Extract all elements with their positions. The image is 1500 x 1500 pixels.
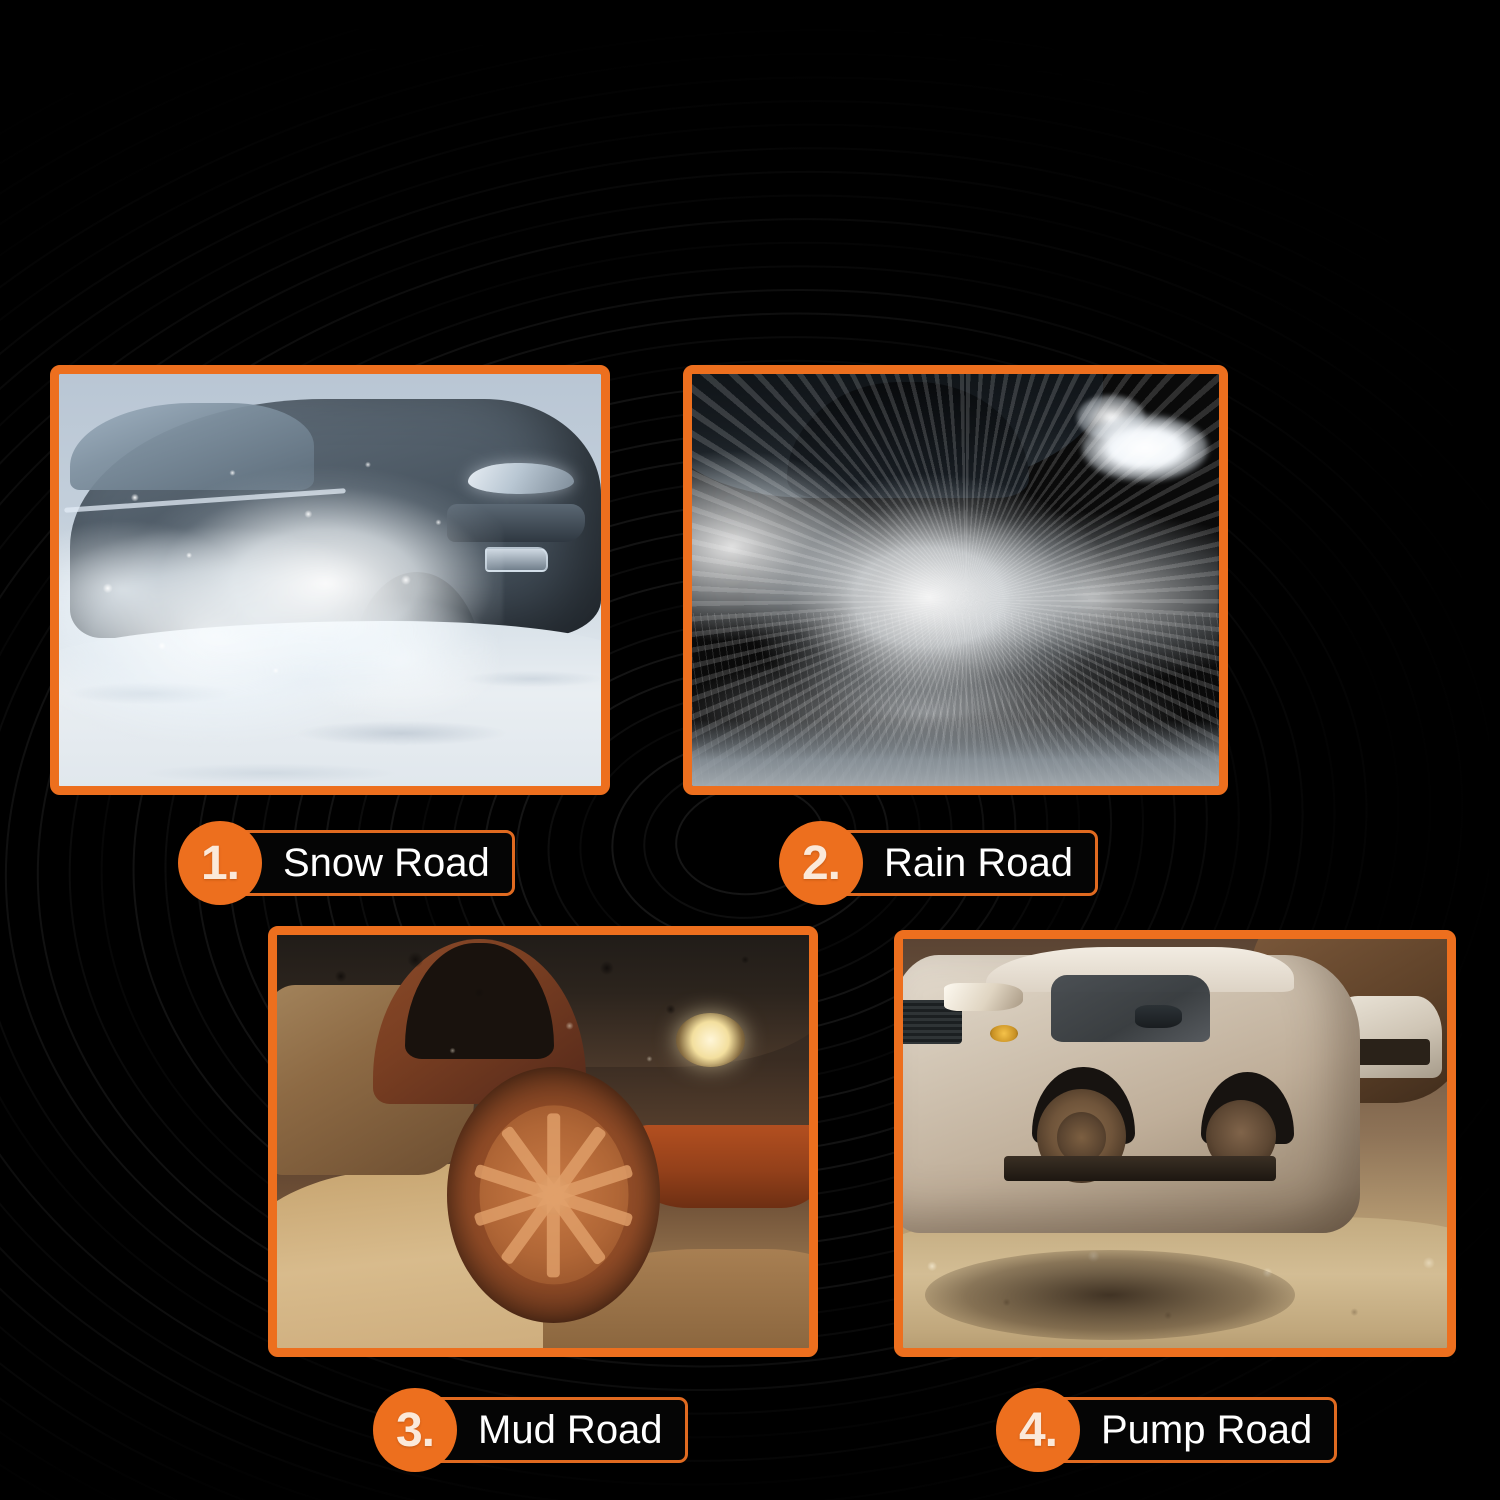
pump-suv-fog-light bbox=[990, 1025, 1018, 1042]
caption-pump-road[interactable]: 4. Pump Road bbox=[996, 1388, 1337, 1472]
caption-number-badge-1: 1. bbox=[178, 821, 262, 905]
mud-splatter-specks bbox=[277, 935, 809, 1348]
caption-label-rain-road: Rain Road bbox=[884, 843, 1073, 883]
panel-pump-road[interactable] bbox=[894, 930, 1456, 1357]
pump-suv-headlight bbox=[944, 983, 1024, 1011]
panel-rain-road[interactable] bbox=[683, 365, 1228, 795]
pump-suv-rocker-panel bbox=[1004, 1156, 1275, 1181]
panel-mud-road[interactable] bbox=[268, 926, 818, 1357]
caption-rain-road[interactable]: 2. Rain Road bbox=[779, 821, 1098, 905]
caption-number-badge-2: 2. bbox=[779, 821, 863, 905]
caption-box-3: Mud Road bbox=[421, 1397, 688, 1463]
caption-box-1: Snow Road bbox=[226, 830, 515, 896]
caption-mud-road[interactable]: 3. Mud Road bbox=[373, 1388, 688, 1472]
caption-box-4: Pump Road bbox=[1044, 1397, 1337, 1463]
photo-rain-road bbox=[692, 374, 1219, 786]
caption-snow-road[interactable]: 1. Snow Road bbox=[178, 821, 515, 905]
pump-suv-window bbox=[1051, 975, 1210, 1042]
photo-snow-road bbox=[59, 374, 601, 786]
photo-mud-road bbox=[277, 935, 809, 1348]
pump-vehicle-shadow bbox=[925, 1250, 1295, 1340]
caption-box-2: Rain Road bbox=[827, 830, 1098, 896]
caption-label-pump-road: Pump Road bbox=[1101, 1410, 1312, 1450]
panel-snow-road[interactable] bbox=[50, 365, 610, 795]
pump-suv-mirror bbox=[1135, 1005, 1182, 1027]
rain-road-surface bbox=[692, 720, 1219, 786]
caption-label-snow-road: Snow Road bbox=[283, 843, 490, 883]
caption-label-mud-road: Mud Road bbox=[478, 1410, 663, 1450]
photo-pump-road bbox=[903, 939, 1447, 1348]
snow-flecks bbox=[59, 374, 601, 786]
pump-suv-body bbox=[903, 955, 1360, 1233]
caption-number-badge-3: 3. bbox=[373, 1388, 457, 1472]
caption-number-badge-4: 4. bbox=[996, 1388, 1080, 1472]
promo-graphic-root: 1. Snow Road 2. Rain Road 3. Mud Road 4.… bbox=[0, 0, 1500, 1500]
